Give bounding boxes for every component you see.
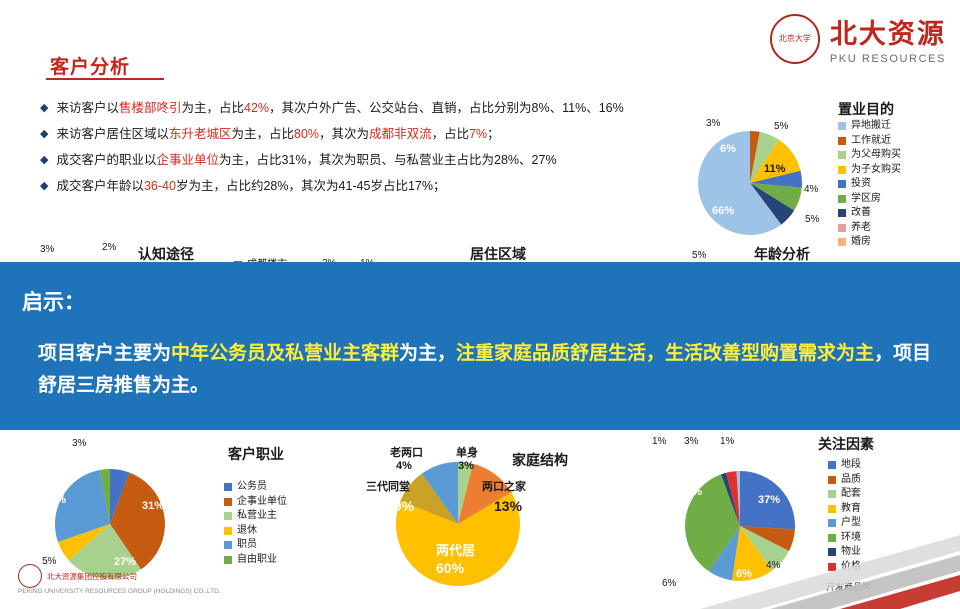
slice-label-fam-4: 4%: [396, 460, 412, 472]
chart-title-residence-area: 居住区域: [470, 244, 526, 264]
legend-item: 为子女购买: [838, 163, 901, 178]
slice-label-occ-28: 28%: [44, 494, 66, 506]
legend-item: 投资: [838, 177, 901, 192]
legend-item: 品质: [828, 473, 861, 488]
slice-label-purpose-66: 66%: [712, 205, 734, 217]
slice-label-att-32: 32%: [680, 486, 702, 498]
legend-item: 公务员: [224, 480, 287, 495]
legend-label: 改善: [851, 206, 871, 221]
bullet-diamond-icon: ◆: [40, 178, 48, 195]
legend-label: 公务员: [237, 480, 267, 495]
slice-label-occ-3: 3%: [72, 438, 86, 449]
slide-page: 北京大学 北大资源 PKU RESOURCES 客户分析 ◆来访客户以售楼部咚引…: [0, 0, 960, 609]
chart-purchase-purpose: 置业目的 3% 6% 5% 11% 4% 5% 66% 异地搬迁工作就近为父母购…: [660, 95, 960, 250]
chart-title-purchase-purpose: 置业目的: [838, 99, 894, 119]
insight-segment: 项目客户主要为: [38, 343, 171, 364]
slice-label-occ-31: 31%: [142, 500, 164, 512]
legend-item: 为父母购买: [838, 148, 901, 163]
legend-swatch-icon: [828, 476, 836, 484]
slice-label-fam-3: 3%: [458, 460, 474, 472]
legend-swatch-icon: [838, 151, 846, 159]
bullet-list: ◆来访客户以售楼部咚引为主，占比42%，其次户外广告、公交站台、直销，占比分别为…: [40, 100, 730, 204]
slice-label-att-1b: 1%: [720, 436, 734, 447]
legend-item: 教育: [828, 502, 861, 517]
chart-title-age-analysis: 年龄分析: [754, 244, 810, 264]
slice-label-purpose-11: 11%: [764, 163, 785, 175]
bullet-text: 成交客户的职业以企事业单位为主，占比31%，其次为职员、与私营业主占比为28%、…: [56, 152, 556, 169]
legend-label: 企事业单位: [237, 495, 287, 510]
bullet-item-2: ◆成交客户的职业以企事业单位为主，占比31%，其次为职员、与私营业主占比为28%…: [40, 152, 730, 169]
slice-label-purpose-5a: 5%: [774, 121, 788, 132]
insight-segment: 中年公务员及私营业主客群: [171, 343, 399, 364]
legend-item: 企事业单位: [224, 495, 287, 510]
legend-label: 配套: [841, 487, 861, 502]
legend-label: 为子女购买: [851, 163, 901, 178]
legend-item: 工作就近: [838, 134, 901, 149]
legend-swatch-icon: [838, 122, 846, 130]
legend-item: 异地搬迁: [838, 119, 901, 134]
footer-company-en: PEKING UNIVERSITY RESOURCES GROUP (HOLDI…: [18, 588, 221, 595]
bullet-diamond-icon: ◆: [40, 100, 48, 117]
legend-item: 养老: [838, 221, 901, 236]
chart-title-customer-occupation: 客户职业: [228, 444, 284, 464]
legend-swatch-icon: [838, 195, 846, 203]
slice-label-age-5b: 5%: [692, 250, 706, 261]
legend-swatch-icon: [838, 166, 846, 174]
legend-item: 配套: [828, 487, 861, 502]
legend-swatch-icon: [224, 498, 232, 506]
chart-title-attention-factors: 关注因素: [818, 434, 874, 454]
slice-label-att-3: 3%: [684, 436, 698, 447]
bullet-diamond-icon: ◆: [40, 152, 48, 169]
pie-purchase-purpose: [660, 95, 960, 250]
slice-label-fam-label-单身: 单身: [456, 444, 478, 460]
bullet-item-0: ◆来访客户以售楼部咚引为主，占比42%，其次户外广告、公交站台、直销，占比分别为…: [40, 100, 730, 117]
legend-label: 工作就近: [851, 134, 891, 149]
brand-logo: 北京大学 北大资源 PKU RESOURCES: [770, 12, 946, 65]
bullet-item-1: ◆来访客户居住区域以东升老城区为主，占比80%，其次为成都非双流，占比7%；: [40, 126, 730, 143]
seal-text: 北京大学: [779, 34, 811, 43]
legend-swatch-icon: [838, 180, 846, 188]
slice-label-purpose-4: 4%: [804, 184, 818, 195]
bullet-text: 成交客户年龄以36-40岁为主，占比约28%，其次为41-45岁占比17%；: [56, 178, 445, 195]
bullet-text: 来访客户居住区域以东升老城区为主，占比80%，其次为成都非双流，占比7%；: [56, 126, 499, 143]
chart-title-awareness-path: 认知途径: [138, 244, 194, 264]
slice-label-fam-label-三代同堂: 三代同堂: [366, 478, 410, 494]
insight-segment: 注重家庭品质舒居生活，生活改善型购置需求为主: [456, 343, 874, 364]
legend-label: 为父母购买: [851, 148, 901, 163]
legend-swatch-icon: [838, 224, 846, 232]
legend-label: 学区房: [851, 192, 881, 207]
page-title: 客户分析: [50, 52, 130, 79]
footer-brand: 北大资源集团控股有限公司 PEKING UNIVERSITY RESOURCES…: [18, 564, 221, 595]
slice-label-fam-label-老两口: 老两口: [390, 444, 423, 460]
legend-label: 品质: [841, 473, 861, 488]
legend-label: 投资: [851, 177, 871, 192]
slice-label-purpose-6: 6%: [720, 143, 736, 155]
insight-text: 项目客户主要为中年公务员及私营业主客群为主，注重家庭品质舒居生活，生活改善型购置…: [38, 338, 938, 402]
slice-label-att-37: 37%: [758, 494, 780, 506]
slice-label-fam-label-两口之家: 两口之家: [482, 478, 526, 494]
legend-swatch-icon: [838, 209, 846, 217]
pku-seal-icon: 北京大学: [770, 14, 820, 64]
legend-label: 教育: [841, 502, 861, 517]
bullet-diamond-icon: ◆: [40, 126, 48, 143]
legend-label: 异地搬迁: [851, 119, 891, 134]
legend-item: 地段: [828, 458, 861, 473]
insight-banner: 启示： 项目客户主要为中年公务员及私营业主客群为主，注重家庭品质舒居生活，生活改…: [0, 262, 960, 430]
slice-label-purpose-3: 3%: [706, 118, 720, 129]
footer-company-cn: 北大资源集团控股有限公司: [47, 571, 137, 582]
legend-purchase-purpose: 异地搬迁工作就近为父母购买为子女购买投资学区房改善养老婚房: [838, 119, 901, 250]
legend-item: 学区房: [838, 192, 901, 207]
slice-label-att-1a: 1%: [652, 436, 666, 447]
legend-swatch-icon: [224, 483, 232, 491]
insight-segment: 为主，: [399, 343, 456, 364]
footer-seal-icon: [18, 564, 42, 588]
legend-item: 改善: [838, 206, 901, 221]
legend-label: 养老: [851, 221, 871, 236]
legend-label: 地段: [841, 458, 861, 473]
brand-name-cn: 北大资源: [830, 12, 946, 51]
chart-title-family-structure: 家庭结构: [512, 450, 568, 470]
slice-label-fam-13: 13%: [494, 498, 522, 514]
bullet-item-3: ◆成交客户年龄以36-40岁为主，占比约28%，其次为41-45岁占比17%；: [40, 178, 730, 195]
slice-label-fam-20: 20%: [386, 498, 414, 514]
legend-swatch-icon: [828, 505, 836, 513]
insight-label: 启示：: [22, 286, 85, 316]
title-underline: [46, 78, 164, 80]
slice-label-aware-2: 2%: [102, 242, 116, 253]
legend-swatch-icon: [828, 490, 836, 498]
slice-label-aware-3a: 3%: [40, 244, 54, 255]
brand-name-en: PKU RESOURCES: [830, 53, 946, 65]
slice-label-occ-6: 6%: [106, 458, 122, 470]
legend-swatch-icon: [828, 461, 836, 469]
bullet-text: 来访客户以售楼部咚引为主，占比42%，其次户外广告、公交站台、直销，占比分别为8…: [56, 100, 623, 117]
slice-label-purpose-5b: 5%: [805, 214, 819, 225]
legend-swatch-icon: [838, 137, 846, 145]
